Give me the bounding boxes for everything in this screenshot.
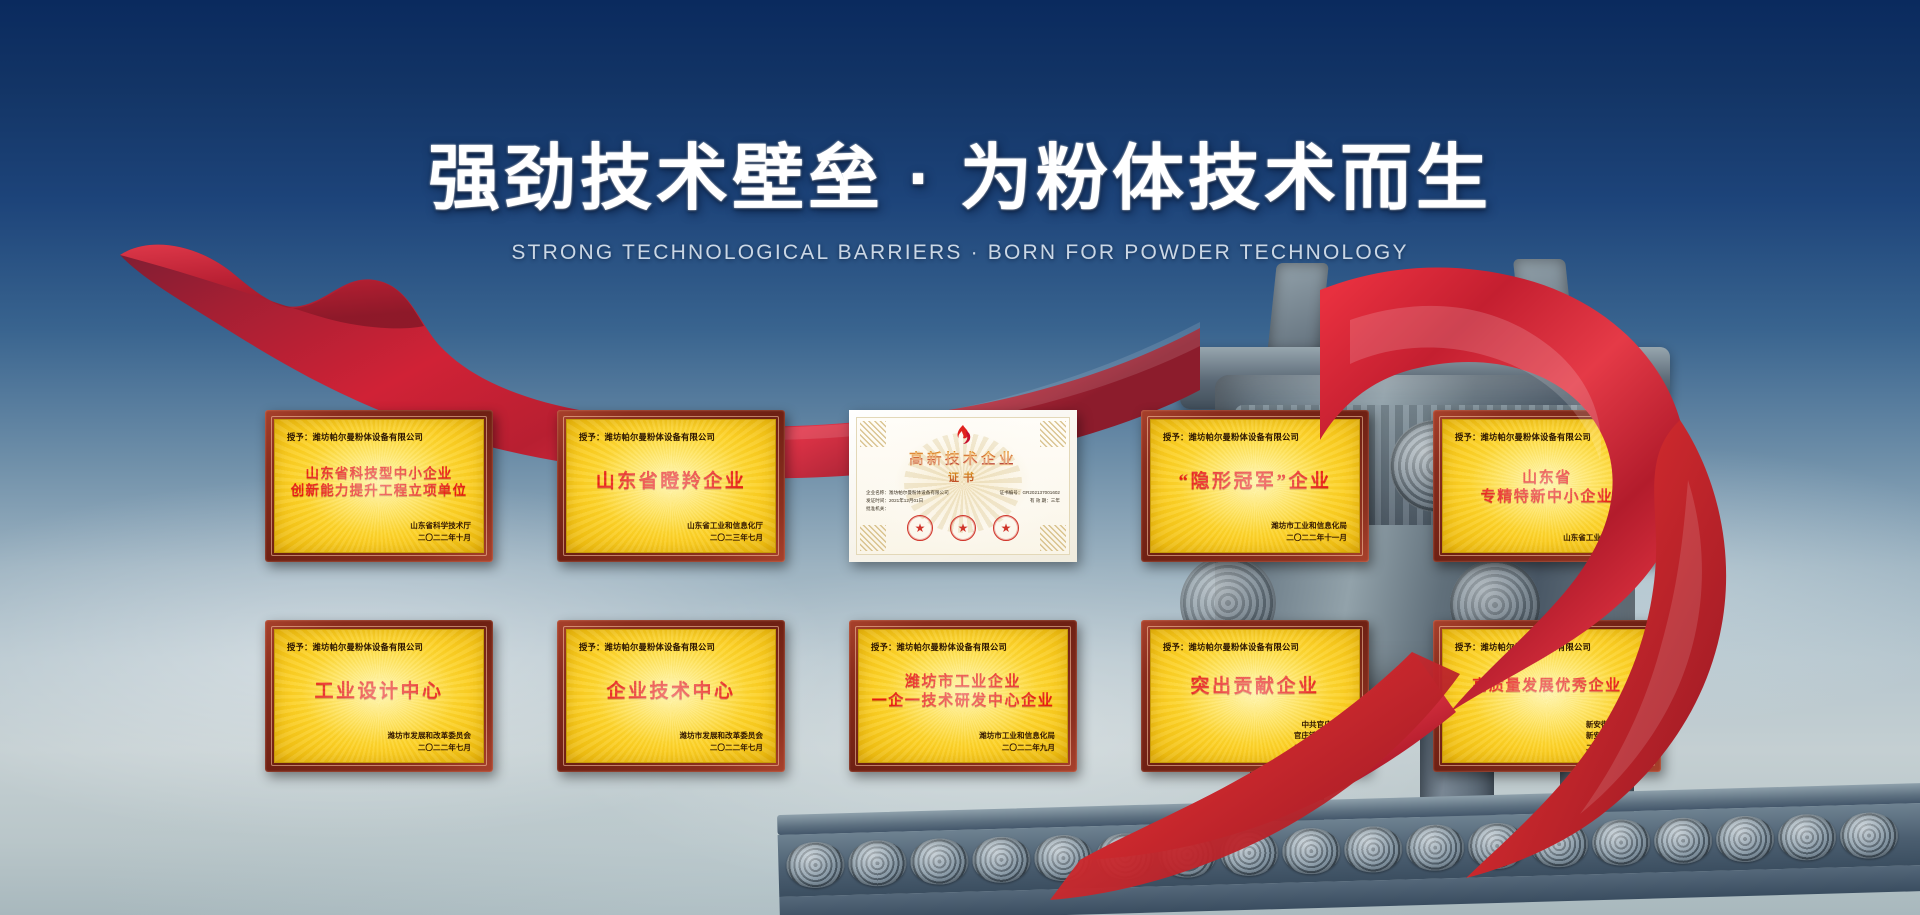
- award-plaque[interactable]: 授予：潍坊帕尔曼粉体设备有限公司 潍坊市工业企业一企一技术研发中心企业 潍坊市工…: [849, 620, 1077, 772]
- page-subtitle: STRONG TECHNOLOGICAL BARRIERS · BORN FOR…: [0, 241, 1920, 265]
- balustrade-medallion: [1777, 813, 1836, 861]
- plaque-award-name-line: 突出贡献企业: [1190, 676, 1319, 698]
- plaque-award-name: 工业设计中心: [287, 654, 471, 730]
- plaque-face: 授予：潍坊帕尔曼粉体设备有限公司 高质量发展优秀企业 新安街道党工委新安街道办事…: [1442, 629, 1652, 763]
- balustrade-medallion: [1715, 815, 1774, 863]
- balustrade-medallion: [1158, 831, 1217, 879]
- plaque-date: 二〇二三年七月: [579, 532, 763, 544]
- plaque-award-name-line: 专精特新中小企业: [1481, 489, 1614, 506]
- plaque-award-name-line: 高质量发展优秀企业: [1472, 678, 1621, 695]
- plaque-award-name-line: 企业技术中心: [606, 681, 735, 703]
- page-title: 强劲技术壁垒 · 为粉体技术而生: [0, 140, 1920, 219]
- plaque-awardee-line: 授予：潍坊帕尔曼粉体设备有限公司: [1163, 431, 1347, 443]
- award-plaque[interactable]: 授予：潍坊帕尔曼粉体设备有限公司 “隐形冠军”企业 潍坊市工业和信息化局二〇二二…: [1141, 410, 1369, 562]
- balustrade-medallion: [1468, 822, 1527, 870]
- plaque-award-name-line: “隐形冠军”企业: [1178, 471, 1331, 493]
- balustrade-medallion: [910, 838, 969, 886]
- balustrade-medallion: [1220, 829, 1279, 877]
- balustrade-medallion: [848, 839, 907, 887]
- plaque-award-name-line: 创新能力提升工程立项单位: [291, 483, 467, 498]
- plaque-issuer-block: 山东省工业和信息化厅: [1455, 532, 1639, 544]
- corner-ornament-icon: [860, 421, 886, 447]
- award-plaque[interactable]: 授予：潍坊帕尔曼粉体设备有限公司 企业技术中心 潍坊市发展和改革委员会二〇二二年…: [557, 620, 785, 772]
- plaque-issuer: 山东省科学技术厅: [287, 520, 471, 532]
- plaque-date: 二〇二二年七月: [287, 742, 471, 754]
- balustrade-medallion: [1530, 820, 1589, 868]
- plaque-date: 二〇二二年十月: [287, 532, 471, 544]
- balustrade-medallion: [786, 841, 845, 889]
- plaque-date: 二〇二二年九月: [871, 742, 1055, 754]
- field-right: 有 效 期：三年: [1030, 497, 1060, 505]
- plaque-awardee-line: 授予：潍坊帕尔曼粉体设备有限公司: [579, 431, 763, 443]
- award-cell[interactable]: 授予：潍坊帕尔曼粉体设备有限公司 潍坊市工业企业一企一技术研发中心企业 潍坊市工…: [849, 620, 1077, 772]
- award-plaque[interactable]: 授予：潍坊帕尔曼粉体设备有限公司 工业设计中心 潍坊市发展和改革委员会二〇二二年…: [265, 620, 493, 772]
- plaque-award-name-line: 一企一技术研发中心企业: [872, 693, 1055, 710]
- plaque-awardee-line: 授予：潍坊帕尔曼粉体设备有限公司: [871, 641, 1055, 653]
- award-plaque[interactable]: 授予：潍坊帕尔曼粉体设备有限公司 山东省科技型中小企业创新能力提升工程立项单位 …: [265, 410, 493, 562]
- certificate-subtitle: 证书: [948, 469, 978, 485]
- plaque-face: 授予：潍坊帕尔曼粉体设备有限公司 工业设计中心 潍坊市发展和改革委员会二〇二二年…: [274, 629, 484, 763]
- plaque-date: 二〇二三年二月: [1455, 742, 1639, 754]
- plaque-issuer-block: 潍坊市发展和改革委员会二〇二二年七月: [287, 730, 471, 754]
- balustrade-medallion: [1592, 819, 1651, 867]
- high-tech-certificate[interactable]: 高新技术企业 证书 企业名称：潍坊帕尔曼粉体设备有限公司 证书编号：GR2021…: [849, 410, 1077, 562]
- plaque-issuer-block: 山东省工业和信息化厅二〇二三年七月: [579, 520, 763, 544]
- plaque-face: 授予：潍坊帕尔曼粉体设备有限公司 突出贡献企业 中共官庄镇委官庄镇人民政府二〇二…: [1150, 629, 1360, 763]
- plaque-issuer-block: 山东省科学技术厅二〇二二年十月: [287, 520, 471, 544]
- award-cell[interactable]: 授予：潍坊帕尔曼粉体设备有限公司 工业设计中心 潍坊市发展和改革委员会二〇二二年…: [265, 620, 493, 772]
- field-left: 企业名称：潍坊帕尔曼粉体设备有限公司: [866, 489, 949, 497]
- balustrade-medallion: [1653, 817, 1712, 865]
- balustrade-medallion: [1034, 834, 1093, 882]
- plaque-award-name: 山东省科技型中小企业创新能力提升工程立项单位: [287, 444, 471, 520]
- plaque-issuer: 山东省工业和信息化厅: [579, 520, 763, 532]
- plaque-award-name-line: 潍坊市工业企业: [905, 674, 1021, 691]
- plaque-awardee-line: 授予：潍坊帕尔曼粉体设备有限公司: [1163, 641, 1347, 653]
- plaque-issuer: 山东省工业和信息化厅: [1455, 532, 1639, 544]
- certificate-title: 高新技术企业: [909, 448, 1017, 469]
- award-cell[interactable]: 授予：潍坊帕尔曼粉体设备有限公司 山东省瞪羚企业 山东省工业和信息化厅二〇二三年…: [557, 410, 785, 562]
- award-plaque[interactable]: 授予：潍坊帕尔曼粉体设备有限公司 山东省专精特新中小企业 山东省工业和信息化厅: [1433, 410, 1661, 562]
- field-left: 发证时间：2021年12月01日: [866, 497, 923, 505]
- banner-stage: 强劲技术壁垒 · 为粉体技术而生 STRONG TECHNOLOGICAL BA…: [0, 0, 1920, 915]
- plaque-award-name-line: 山东省: [1522, 470, 1572, 487]
- balustrade-medallion: [1406, 824, 1465, 872]
- plaque-issuer-secondary: 新安街道办事处: [1455, 730, 1639, 742]
- plaque-issuer: 潍坊市发展和改革委员会: [287, 730, 471, 742]
- field-right: 证书编号：GR202137001602: [999, 489, 1060, 497]
- plaque-award-name: 突出贡献企业: [1163, 654, 1347, 719]
- plaque-issuer-block: 潍坊市工业和信息化局二〇二二年十一月: [1163, 520, 1347, 544]
- plaque-issuer-block: 潍坊市发展和改革委员会二〇二二年七月: [579, 730, 763, 754]
- plaque-awardee-line: 授予：潍坊帕尔曼粉体设备有限公司: [287, 641, 471, 653]
- award-cell[interactable]: 授予：潍坊帕尔曼粉体设备有限公司 “隐形冠军”企业 潍坊市工业和信息化局二〇二二…: [1141, 410, 1369, 562]
- award-plaque[interactable]: 授予：潍坊帕尔曼粉体设备有限公司 突出贡献企业 中共官庄镇委官庄镇人民政府二〇二…: [1141, 620, 1369, 772]
- plaque-award-name-line: 工业设计中心: [314, 681, 443, 703]
- balustrade-medallion: [972, 836, 1031, 884]
- award-cell[interactable]: 授予：潍坊帕尔曼粉体设备有限公司 突出贡献企业 中共官庄镇委官庄镇人民政府二〇二…: [1141, 620, 1369, 772]
- flame-logo-icon: [952, 425, 974, 450]
- award-plaque[interactable]: 授予：潍坊帕尔曼粉体设备有限公司 山东省瞪羚企业 山东省工业和信息化厅二〇二三年…: [557, 410, 785, 562]
- plaque-award-name: “隐形冠军”企业: [1163, 444, 1347, 520]
- plaque-awardee-line: 授予：潍坊帕尔曼粉体设备有限公司: [287, 431, 471, 443]
- plaque-award-name: 山东省瞪羚企业: [579, 444, 763, 520]
- certificate-field-row: 企业名称：潍坊帕尔曼粉体设备有限公司 证书编号：GR202137001602: [866, 489, 1060, 497]
- certificate-field-row: 发证时间：2021年12月01日 有 效 期：三年: [866, 497, 1060, 505]
- official-seal-icon: ★: [907, 515, 933, 541]
- plaque-awardee-line: 授予：潍坊帕尔曼粉体设备有限公司: [1455, 431, 1639, 443]
- plaque-face: 授予：潍坊帕尔曼粉体设备有限公司 “隐形冠军”企业 潍坊市工业和信息化局二〇二二…: [1150, 419, 1360, 553]
- award-cell[interactable]: 授予：潍坊帕尔曼粉体设备有限公司 山东省科技型中小企业创新能力提升工程立项单位 …: [265, 410, 493, 562]
- award-cell[interactable]: 高新技术企业 证书 企业名称：潍坊帕尔曼粉体设备有限公司 证书编号：GR2021…: [849, 410, 1077, 562]
- plaque-face: 授予：潍坊帕尔曼粉体设备有限公司 山东省科技型中小企业创新能力提升工程立项单位 …: [274, 419, 484, 553]
- banner-headings: 强劲技术壁垒 · 为粉体技术而生 STRONG TECHNOLOGICAL BA…: [0, 140, 1920, 265]
- official-seal-icon: ★: [950, 515, 976, 541]
- plaque-date: 二〇二〇年一月: [1163, 742, 1347, 754]
- award-cell[interactable]: 授予：潍坊帕尔曼粉体设备有限公司 企业技术中心 潍坊市发展和改革委员会二〇二二年…: [557, 620, 785, 772]
- certificate-fields: 企业名称：潍坊帕尔曼粉体设备有限公司 证书编号：GR202137001602发证…: [866, 489, 1060, 513]
- plaque-issuer: 中共官庄镇委: [1163, 719, 1347, 731]
- plaque-issuer: 潍坊市工业和信息化局: [1163, 520, 1347, 532]
- plaque-issuer-block: 中共官庄镇委官庄镇人民政府二〇二〇年一月: [1163, 719, 1347, 754]
- award-plaque[interactable]: 授予：潍坊帕尔曼粉体设备有限公司 高质量发展优秀企业 新安街道党工委新安街道办事…: [1433, 620, 1661, 772]
- plaque-issuer: 潍坊市发展和改革委员会: [579, 730, 763, 742]
- plaque-face: 授予：潍坊帕尔曼粉体设备有限公司 山东省瞪羚企业 山东省工业和信息化厅二〇二三年…: [566, 419, 776, 553]
- balustrade-medallion: [1344, 826, 1403, 874]
- plaque-date: 二〇二二年十一月: [1163, 532, 1347, 544]
- plaque-face: 授予：潍坊帕尔曼粉体设备有限公司 企业技术中心 潍坊市发展和改革委员会二〇二二年…: [566, 629, 776, 763]
- award-cell[interactable]: 授予：潍坊帕尔曼粉体设备有限公司 山东省专精特新中小企业 山东省工业和信息化厅: [1433, 410, 1661, 562]
- plaque-date: 二〇二二年七月: [579, 742, 763, 754]
- balustrade-medallion: [1282, 827, 1341, 875]
- certificate-field-row: 批准机关：: [866, 505, 1060, 513]
- plaque-issuer-block: 潍坊市工业和信息化局二〇二二年九月: [871, 730, 1055, 754]
- plaque-issuer-secondary: 官庄镇人民政府: [1163, 730, 1347, 742]
- balustrade-medallion: [1839, 812, 1898, 860]
- plaque-award-name-line: 山东省瞪羚企业: [596, 471, 747, 493]
- plaque-award-name: 山东省专精特新中小企业: [1455, 444, 1639, 532]
- certificate-seals: ★★★: [866, 515, 1060, 541]
- plaque-issuer: 潍坊市工业和信息化局: [871, 730, 1055, 742]
- corner-ornament-icon: [1040, 421, 1066, 447]
- plaque-award-name: 潍坊市工业企业一企一技术研发中心企业: [871, 654, 1055, 730]
- plaque-issuer: 新安街道党工委: [1455, 719, 1639, 731]
- plaque-awardee-line: 授予：潍坊帕尔曼粉体设备有限公司: [1455, 641, 1639, 653]
- plaque-awardee-line: 授予：潍坊帕尔曼粉体设备有限公司: [579, 641, 763, 653]
- balustrade-medallion: [1096, 833, 1155, 881]
- plaque-face: 授予：潍坊帕尔曼粉体设备有限公司 山东省专精特新中小企业 山东省工业和信息化厅: [1442, 419, 1652, 553]
- awards-grid: 授予：潍坊帕尔曼粉体设备有限公司 山东省科技型中小企业创新能力提升工程立项单位 …: [265, 410, 1665, 772]
- official-seal-icon: ★: [993, 515, 1019, 541]
- plaque-face: 授予：潍坊帕尔曼粉体设备有限公司 潍坊市工业企业一企一技术研发中心企业 潍坊市工…: [858, 629, 1068, 763]
- plaque-award-name: 企业技术中心: [579, 654, 763, 730]
- plaque-award-name-line: 山东省科技型中小企业: [306, 466, 453, 481]
- plaque-award-name: 高质量发展优秀企业: [1455, 654, 1639, 719]
- certificate-inner: 高新技术企业 证书 企业名称：潍坊帕尔曼粉体设备有限公司 证书编号：GR2021…: [856, 417, 1070, 555]
- field-left: 批准机关：: [866, 505, 889, 513]
- award-cell[interactable]: 授予：潍坊帕尔曼粉体设备有限公司 高质量发展优秀企业 新安街道党工委新安街道办事…: [1433, 620, 1661, 772]
- plaque-issuer-block: 新安街道党工委新安街道办事处二〇二三年二月: [1455, 719, 1639, 754]
